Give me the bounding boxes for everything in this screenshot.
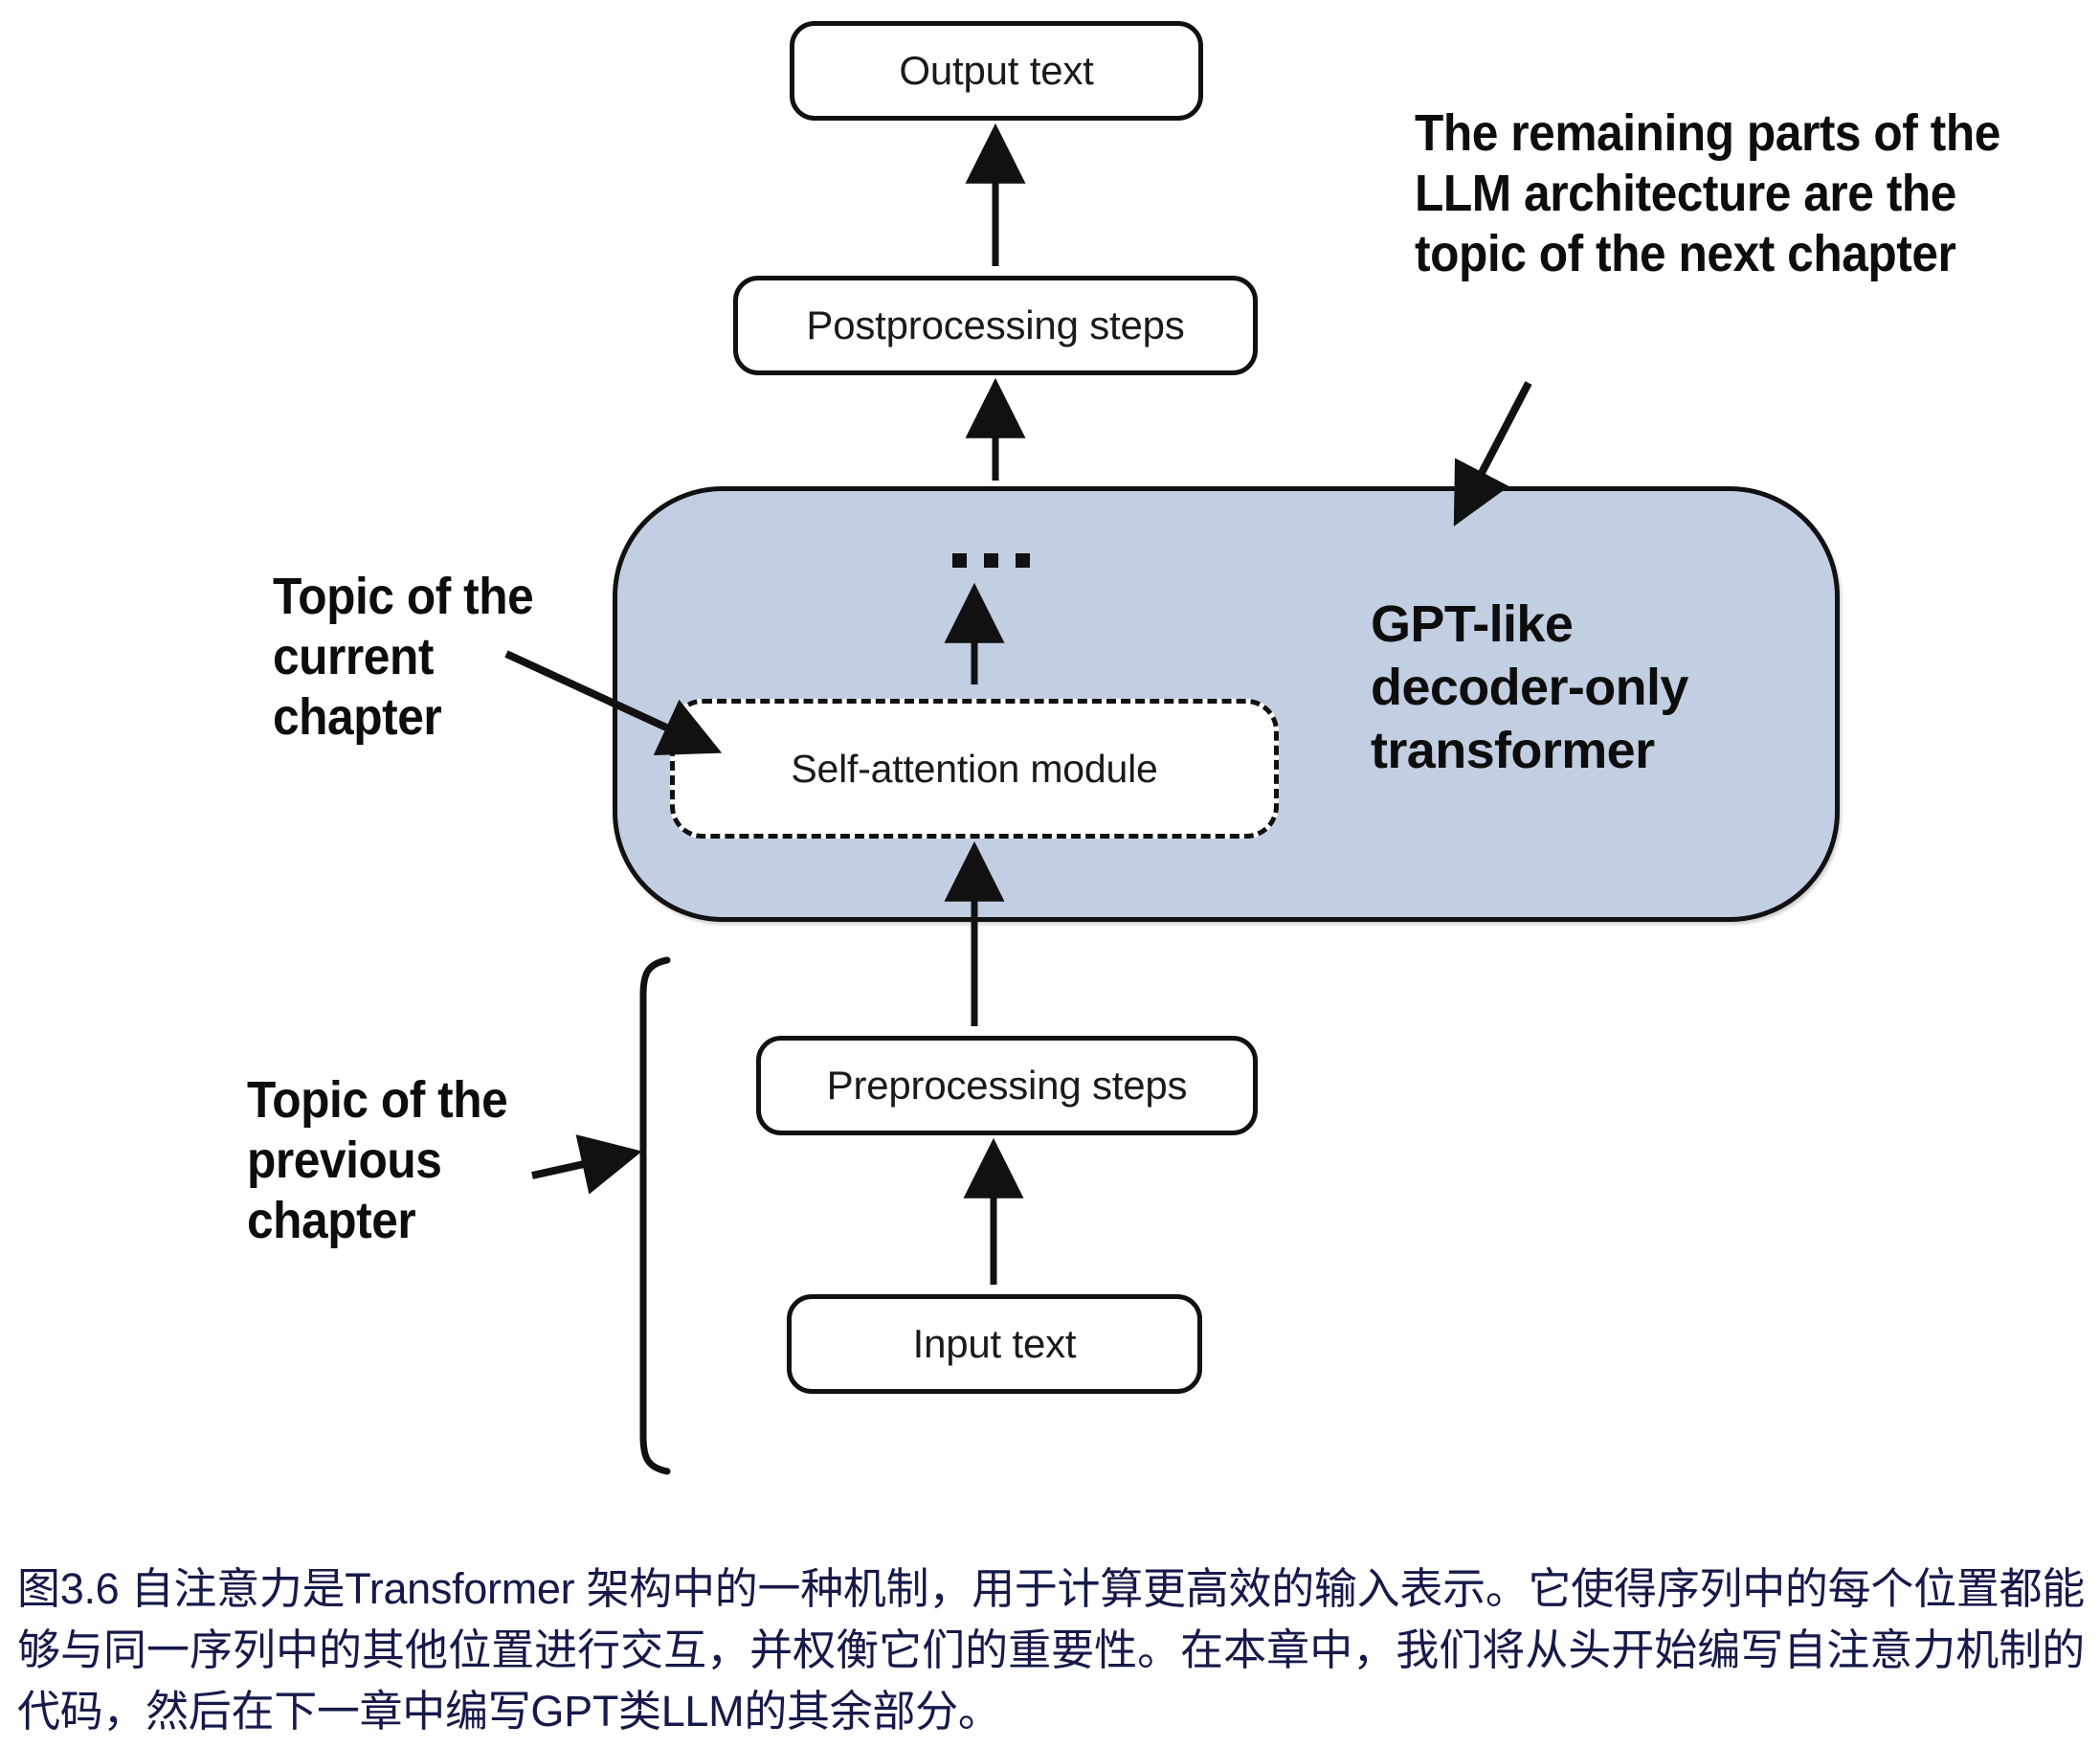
callout-previous-chapter: Topic of the previous chapter — [247, 1070, 599, 1252]
previous-chapter-bracket — [643, 960, 667, 1471]
node-self-attention-module: Self-attention module — [670, 699, 1279, 839]
node-input-text: Input text — [787, 1294, 1202, 1394]
figure-page: GPT-like decoder-only transformer Output… — [0, 0, 2100, 1748]
callout-current-chapter: Topic of the current chapter — [273, 567, 625, 749]
ellipsis-dots — [952, 553, 1030, 568]
callout-next-chapter: The remaining parts of the LLM architect… — [1415, 103, 2084, 285]
figure-caption: 图3.6 自注意力是Transformer 架构中的一种机制，用于计算更高效的输… — [17, 1558, 2085, 1742]
transformer-block-label: GPT-like decoder-only transformer — [1371, 594, 1821, 783]
node-postprocessing-steps: Postprocessing steps — [733, 276, 1258, 375]
node-output-text: Output text — [790, 21, 1203, 121]
architecture-diagram: GPT-like decoder-only transformer Output… — [0, 0, 2100, 1532]
node-preprocessing-steps: Preprocessing steps — [756, 1036, 1258, 1135]
